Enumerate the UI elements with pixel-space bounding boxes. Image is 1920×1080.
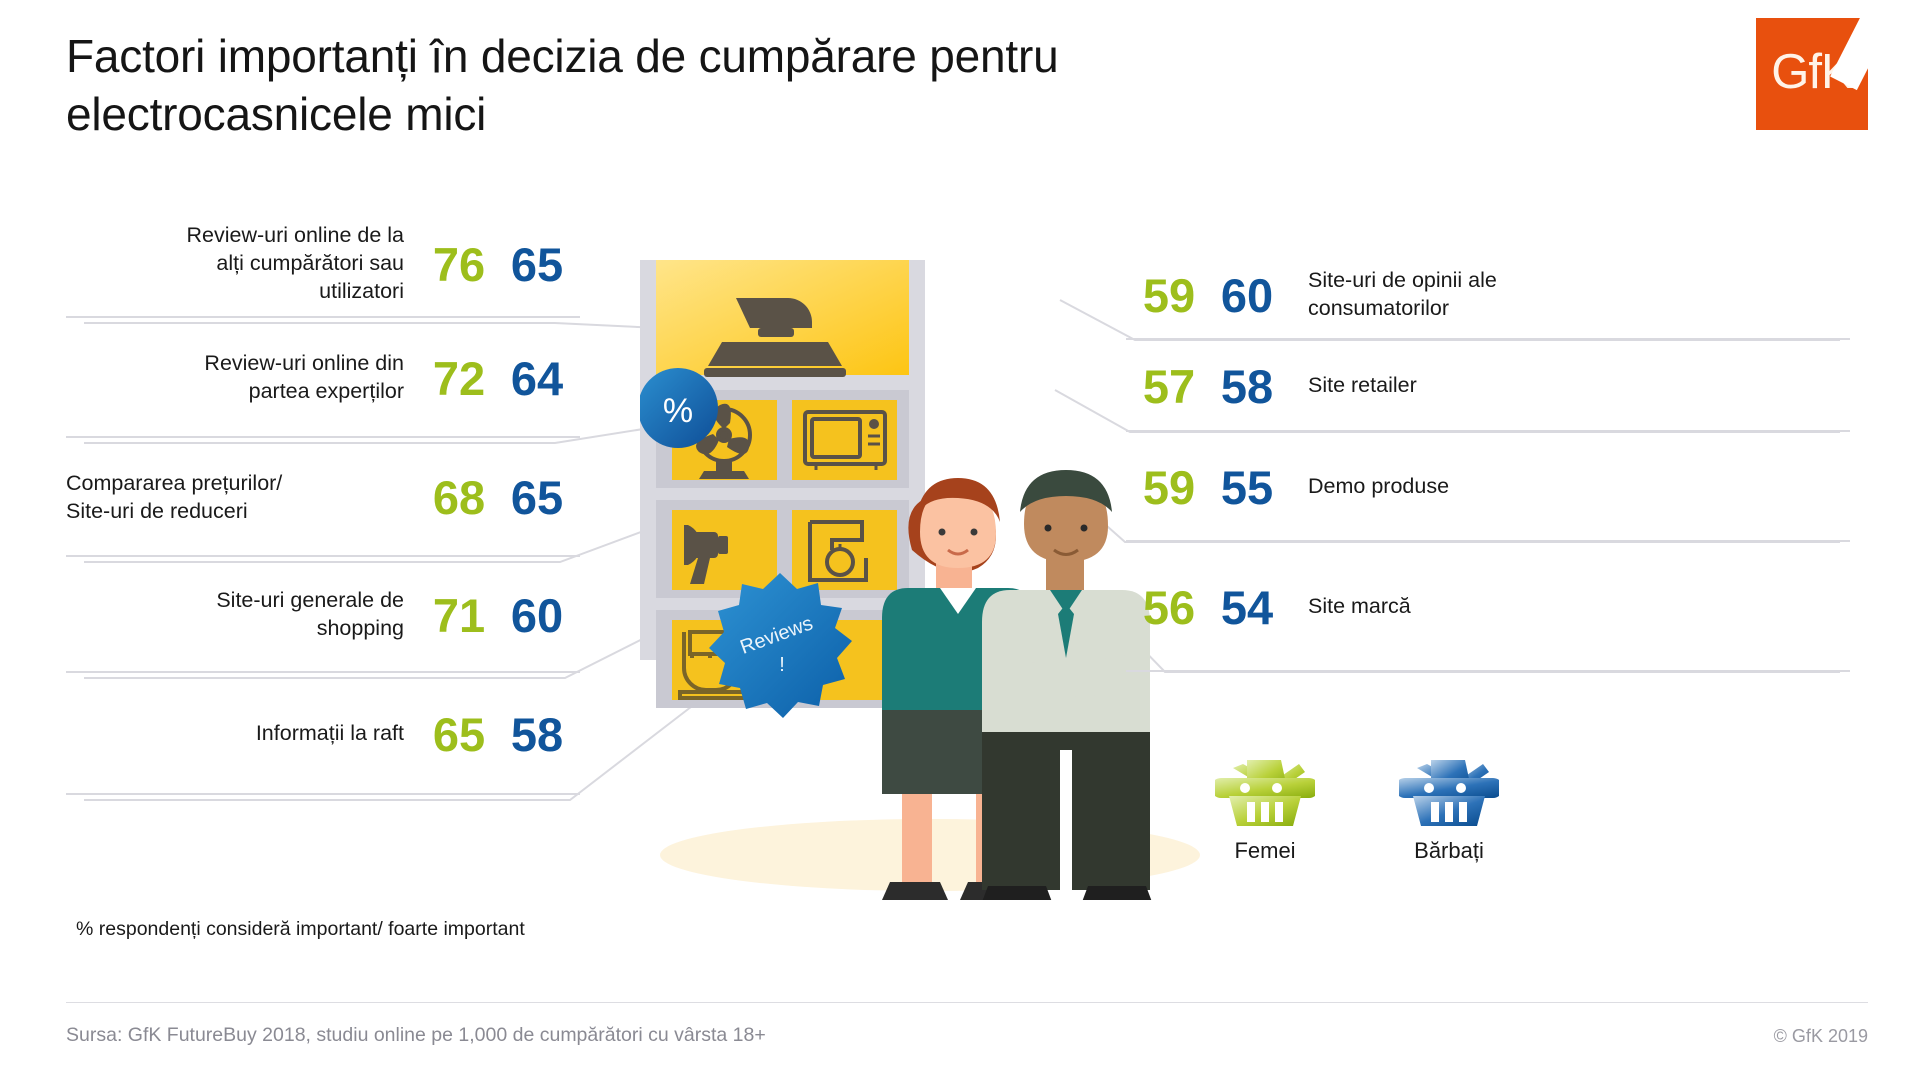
svg-text:!: ! xyxy=(779,654,785,676)
stat-row: 57 58 Site retailer xyxy=(1130,340,1850,432)
shopping-basket-icon xyxy=(1399,748,1499,828)
legend: Femei xyxy=(1215,748,1499,864)
page-title: Factori importanți în decizia de cumpăra… xyxy=(66,28,1366,144)
copyright-text: © GfK 2019 xyxy=(1774,1026,1868,1047)
row-divider xyxy=(1126,670,1850,672)
stat-value-barbati: 60 xyxy=(1208,272,1286,319)
stat-value-femei: 59 xyxy=(1130,272,1208,319)
retail-shelf-illustration: % Reviews ! xyxy=(640,250,1200,900)
gfk-logo: GfK xyxy=(1756,18,1868,130)
stat-label: Site retailer xyxy=(1286,372,1850,400)
stat-label: Review-uri online dinpartea experților xyxy=(66,350,420,406)
stat-label: Review-uri online de laalți cumpărători … xyxy=(66,222,420,306)
left-stats-column: Review-uri online de laalți cumpărători … xyxy=(66,210,576,795)
stat-value-femei: 68 xyxy=(420,474,498,521)
stat-value-barbati: 54 xyxy=(1208,584,1286,631)
stat-row: 59 55 Demo produse xyxy=(1130,432,1850,542)
stat-value-femei: 57 xyxy=(1130,363,1208,410)
stat-label: Demo produse xyxy=(1286,473,1850,501)
stat-row: 56 54 Site marcă xyxy=(1130,542,1850,672)
stat-label: Compararea prețurilor/Site-uri de reduce… xyxy=(66,470,420,526)
stat-row: 59 60 Site-uri de opinii aleconsumatoril… xyxy=(1130,250,1850,340)
source-text: Sursa: GfK FutureBuy 2018, studiu online… xyxy=(66,1024,766,1047)
shopping-basket-icon xyxy=(1215,748,1315,828)
stat-label: Site-uri generale deshopping xyxy=(66,587,420,643)
stat-row: Compararea prețurilor/Site-uri de reduce… xyxy=(66,438,576,557)
stat-value-barbati: 65 xyxy=(498,474,576,521)
footnote: % respondenți consideră important/ foart… xyxy=(76,918,525,941)
footer-divider xyxy=(66,1002,1868,1003)
right-stats-column: 59 60 Site-uri de opinii aleconsumatoril… xyxy=(1130,250,1850,672)
stat-row: Review-uri online de laalți cumpărători … xyxy=(66,210,576,318)
stat-row: Informații la raft 65 58 xyxy=(66,673,576,795)
stat-label: Site marcă xyxy=(1286,593,1850,621)
row-divider xyxy=(66,793,580,795)
stat-value-barbati: 65 xyxy=(498,241,576,288)
stat-row: Site-uri generale deshopping 71 60 xyxy=(66,557,576,673)
stat-value-femei: 72 xyxy=(420,355,498,402)
stat-row: Review-uri online dinpartea experților 7… xyxy=(66,318,576,438)
legend-item-barbati: Bărbați xyxy=(1399,748,1499,864)
legend-label: Femei xyxy=(1234,838,1295,864)
stat-value-barbati: 58 xyxy=(498,711,576,758)
stat-value-barbati: 58 xyxy=(1208,363,1286,410)
stat-label: Informații la raft xyxy=(66,720,420,748)
legend-label: Bărbați xyxy=(1414,838,1484,864)
man-illustration xyxy=(982,470,1152,900)
legend-item-femei: Femei xyxy=(1215,748,1315,864)
stat-value-femei: 65 xyxy=(420,711,498,758)
infographic-page: Factori importanți în decizia de cumpăra… xyxy=(0,0,1920,1080)
stat-value-barbati: 64 xyxy=(498,355,576,402)
stat-value-femei: 71 xyxy=(420,592,498,639)
stat-value-barbati: 55 xyxy=(1208,464,1286,511)
stat-value-femei: 56 xyxy=(1130,584,1208,631)
stat-value-femei: 59 xyxy=(1130,464,1208,511)
stat-value-femei: 76 xyxy=(420,241,498,288)
discount-badge: % xyxy=(640,368,718,448)
stat-label: Site-uri de opinii aleconsumatorilor xyxy=(1286,267,1850,323)
svg-text:%: % xyxy=(663,392,693,430)
stat-value-barbati: 60 xyxy=(498,592,576,639)
